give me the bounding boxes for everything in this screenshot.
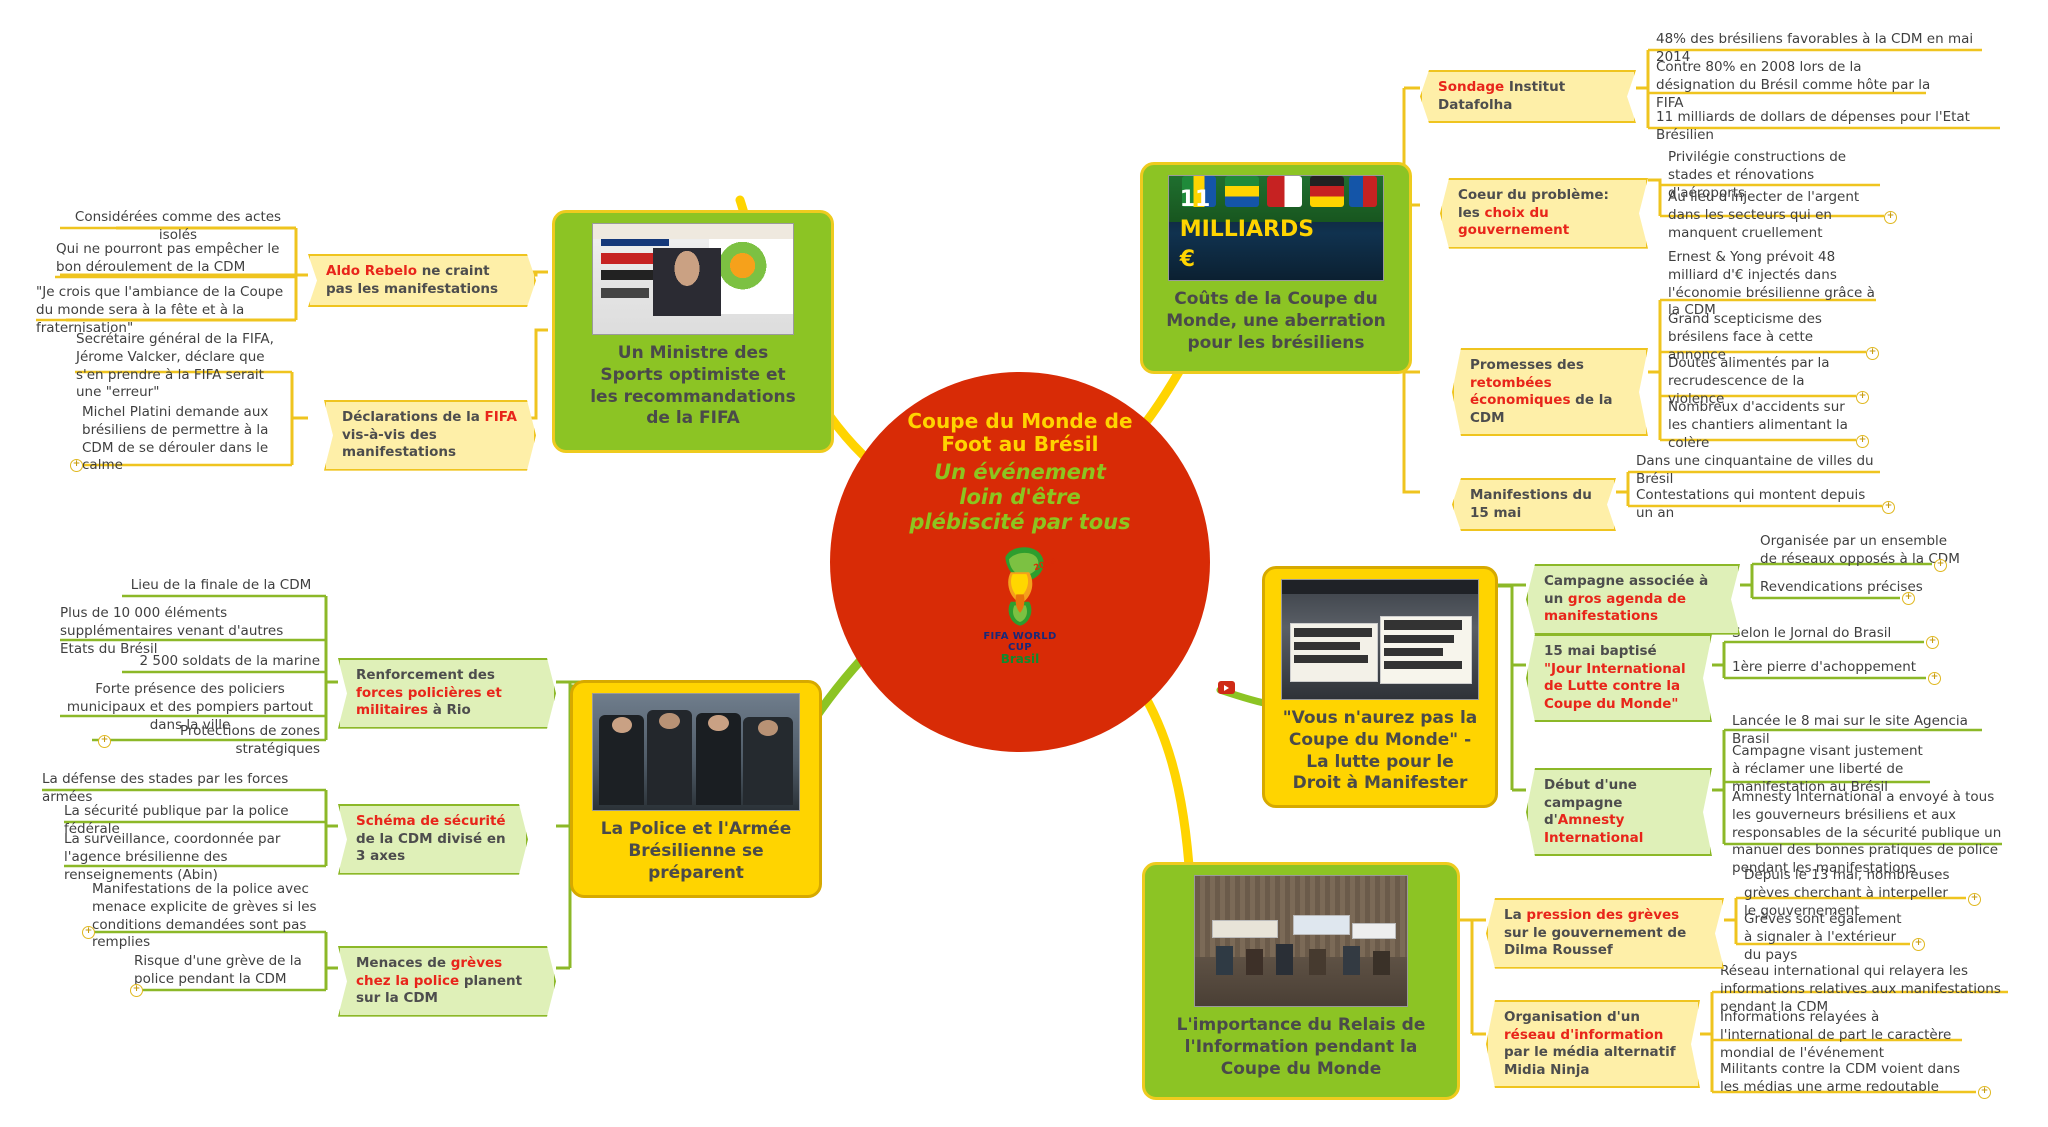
expand-icon-droit-0-1[interactable]: +: [1902, 592, 1915, 605]
topic-sondage-datafolha[interactable]: Sondage Institut Datafolha: [1420, 70, 1636, 123]
expand-icon-ministre-1-1[interactable]: +: [70, 459, 83, 472]
topic-promesses-accent: retombées économiques: [1470, 375, 1570, 409]
branch-image-protest-stadium: [1281, 579, 1479, 700]
central-title: Coupe du Monde de Foot au Brésil: [907, 410, 1132, 456]
leaf-ministre-0-1[interactable]: Qui ne pourront pas empêcher le bon déro…: [52, 240, 298, 279]
branch-police-armee[interactable]: La Police et l'Armée Brésilienne se prép…: [570, 680, 822, 898]
fifa-logo-caption-brasil: Brasil: [974, 653, 1066, 665]
topic-aldo-rebelo[interactable]: Aldo Rebelo ne craint pas les manifestat…: [308, 254, 536, 307]
expand-icon-police-2-0[interactable]: +: [82, 926, 95, 939]
leaf-relais-1-2[interactable]: Militants contre la CDM voient dans les …: [1716, 1060, 1976, 1099]
branch-ministre-label: Un Ministre des Sports optimiste et les …: [580, 339, 806, 440]
expand-icon-droit-0-0[interactable]: +: [1934, 559, 1947, 572]
leaf-couts-3-1[interactable]: Contestations qui montent depuis un an: [1632, 486, 1888, 525]
topic-amnesty-international[interactable]: Début d'une campagne d'Amnesty Internati…: [1526, 768, 1712, 856]
leaf-police-0-2[interactable]: 2 500 soldats de la marine: [118, 652, 324, 673]
topic-reseau-information[interactable]: Organisation d'un réseau d'information p…: [1486, 1000, 1700, 1088]
topic-pression-pre: La: [1504, 907, 1526, 923]
topic-declarations-fifa-pre: Déclarations de la: [342, 409, 485, 425]
branch-police-label: La Police et l'Armée Brésilienne se prép…: [591, 815, 801, 894]
topic-reseau-pre: Organisation d'un: [1504, 1009, 1640, 1025]
expand-icon-police-0-4[interactable]: +: [98, 735, 111, 748]
expand-icon-droit-1-1[interactable]: +: [1928, 672, 1941, 685]
expand-icon-relais-1-2[interactable]: +: [1978, 1086, 1991, 1099]
topic-promesses-retombees[interactable]: Promesses des retombées économiques de l…: [1452, 348, 1648, 436]
branch-image-police: [592, 693, 800, 811]
leaf-ministre-1-0[interactable]: Secrétaire général de la FIFA, Jérome Va…: [72, 330, 294, 404]
topic-15-mai-baptise[interactable]: 15 mai baptisé "Jour International de Lu…: [1526, 634, 1712, 722]
leaf-police-1-2[interactable]: La surveillance, coordonnée par l'agence…: [60, 830, 324, 886]
expand-icon-police-2-1[interactable]: +: [130, 984, 143, 997]
branch-relais-information[interactable]: L'importance du Relais de l'Information …: [1142, 862, 1460, 1100]
topic-manifestions-text: Manifestions du 15 mai: [1470, 487, 1592, 521]
expand-icon-droit-1-0[interactable]: +: [1926, 636, 1939, 649]
leaf-ministre-1-1[interactable]: Michel Platini demande aux brésiliens de…: [78, 403, 294, 477]
topic-promesses-pre: Promesses des: [1470, 357, 1584, 373]
branch-droit-label: "Vous n'aurez pas la Coupe du Monde" - L…: [1273, 704, 1488, 805]
topic-campagne-agenda[interactable]: Campagne associée à un gros agenda de ma…: [1526, 564, 1740, 635]
topic-menaces-pre: Menaces de: [356, 955, 451, 971]
topic-15mai-pre: 15 mai baptisé: [1544, 643, 1657, 659]
leaf-police-0-4[interactable]: Protections de zones stratégiques: [88, 722, 324, 761]
topic-schema-post: de la CDM divisé en 3 axes: [356, 831, 506, 865]
central-topic[interactable]: Coupe du Monde de Foot au Brésil Un évén…: [830, 372, 1210, 752]
topic-15mai-accent: "Jour International de Lutte contre la C…: [1544, 661, 1686, 712]
leaf-droit-1-1[interactable]: 1ère pierre d'achoppement: [1728, 658, 1928, 679]
leaf-couts-1-1[interactable]: Au lieu d'injecter de l'argent dans les …: [1664, 188, 1890, 244]
topic-pression-greves[interactable]: La pression des grèves sur le gouverneme…: [1486, 898, 1724, 969]
topic-renforcement-pre: Renforcement des: [356, 667, 495, 683]
topic-menaces-greves-police[interactable]: Menaces de grèves chez la police planent…: [338, 946, 556, 1017]
branch-image-manifestation-rue: [1194, 875, 1408, 1007]
branch-image-couts: 11 MILLIARDS €: [1168, 175, 1384, 281]
expand-icon-relais-0-1[interactable]: +: [1912, 938, 1925, 951]
leaf-couts-2-3[interactable]: Nombreux d'accidents sur les chantiers a…: [1664, 398, 1860, 454]
fifa-world-cup-logo-icon: 2014 FIFA WORLD CUP Brasil: [974, 541, 1066, 651]
central-subtitle: Un événement loin d'être plébiscité par …: [909, 460, 1130, 534]
topic-declarations-fifa-accent: FIFA: [485, 409, 517, 425]
leaf-relais-1-1[interactable]: Informations relayées à l'international …: [1716, 1008, 1962, 1064]
expand-icon-couts-3-1[interactable]: +: [1882, 501, 1895, 514]
topic-sondage-accent: Sondage: [1438, 79, 1504, 95]
leaf-couts-3-0[interactable]: Dans une cinquantaine de villes du Brési…: [1632, 452, 1888, 491]
topic-coeur-du-probleme[interactable]: Coeur du problème: les choix du gouverne…: [1440, 178, 1648, 249]
fifa-logo-caption: FIFA WORLD CUP: [974, 631, 1066, 653]
expand-icon-couts-2-1[interactable]: +: [1866, 347, 1879, 360]
topic-reseau-post: par le média alternatif Midia Ninja: [1504, 1044, 1676, 1078]
leaf-relais-0-1[interactable]: Grèves sont également à signaler à l'ext…: [1740, 910, 1912, 966]
leaf-police-2-1[interactable]: Risque d'une grève de la police pendant …: [130, 952, 324, 991]
topic-renforcement-post: à Rio: [428, 702, 471, 718]
expand-icon-couts-2-3[interactable]: +: [1856, 435, 1869, 448]
expand-icon-relais-0-0[interactable]: +: [1968, 893, 1981, 906]
branch-ministre-des-sports[interactable]: Un Ministre des Sports optimiste et les …: [552, 210, 834, 453]
expand-icon-couts-2-2[interactable]: +: [1856, 391, 1869, 404]
branch-couts-coupe-du-monde[interactable]: 11 MILLIARDS € Coûts de la Coupe du Mond…: [1140, 162, 1412, 374]
topic-reseau-accent: réseau d'information: [1504, 1027, 1663, 1043]
topic-amnesty-accent: Amnesty International: [1544, 812, 1643, 846]
leaf-couts-0-1[interactable]: Contre 80% en 2008 lors de la désignatio…: [1652, 58, 1942, 114]
topic-manifestions-15-mai[interactable]: Manifestions du 15 mai: [1452, 478, 1616, 531]
topic-renforcement-forces[interactable]: Renforcement des forces policières et mi…: [338, 658, 556, 729]
topic-aldo-rebelo-accent: Aldo Rebelo: [326, 263, 417, 279]
topic-declarations-fifa[interactable]: Déclarations de la FIFA vis-à-vis des ma…: [324, 400, 536, 471]
collapse-toggle-droit-manifester[interactable]: [1218, 681, 1235, 694]
topic-schema-securite[interactable]: Schéma de sécurité de la CDM divisé en 3…: [338, 804, 528, 875]
branch-couts-label: Coûts de la Coupe du Monde, une aberrati…: [1156, 285, 1396, 364]
branch-droit-a-manifester[interactable]: "Vous n'aurez pas la Coupe du Monde" - L…: [1262, 566, 1498, 808]
leaf-couts-0-2[interactable]: 11 milliards de dollars de dépenses pour…: [1652, 108, 2008, 147]
branch-relais-label: L'importance du Relais de l'Information …: [1167, 1011, 1436, 1090]
leaf-police-0-0[interactable]: Lieu de la finale de la CDM: [118, 576, 324, 597]
topic-schema-accent: Schéma de sécurité: [356, 813, 506, 829]
expand-icon-couts-1-1[interactable]: +: [1884, 211, 1897, 224]
leaf-police-2-0[interactable]: Manifestations de la police avec menace …: [88, 880, 324, 954]
leaf-droit-1-0[interactable]: Selon le Jornal do Brasil: [1728, 624, 1928, 645]
topic-pression-accent: pression des grèves: [1526, 907, 1679, 923]
topic-pression-post: sur le gouvernement de Dilma Roussef: [1504, 925, 1686, 959]
topic-declarations-fifa-post: vis-à-vis des manifestations: [342, 427, 456, 461]
branch-image-ministre: [592, 223, 794, 335]
